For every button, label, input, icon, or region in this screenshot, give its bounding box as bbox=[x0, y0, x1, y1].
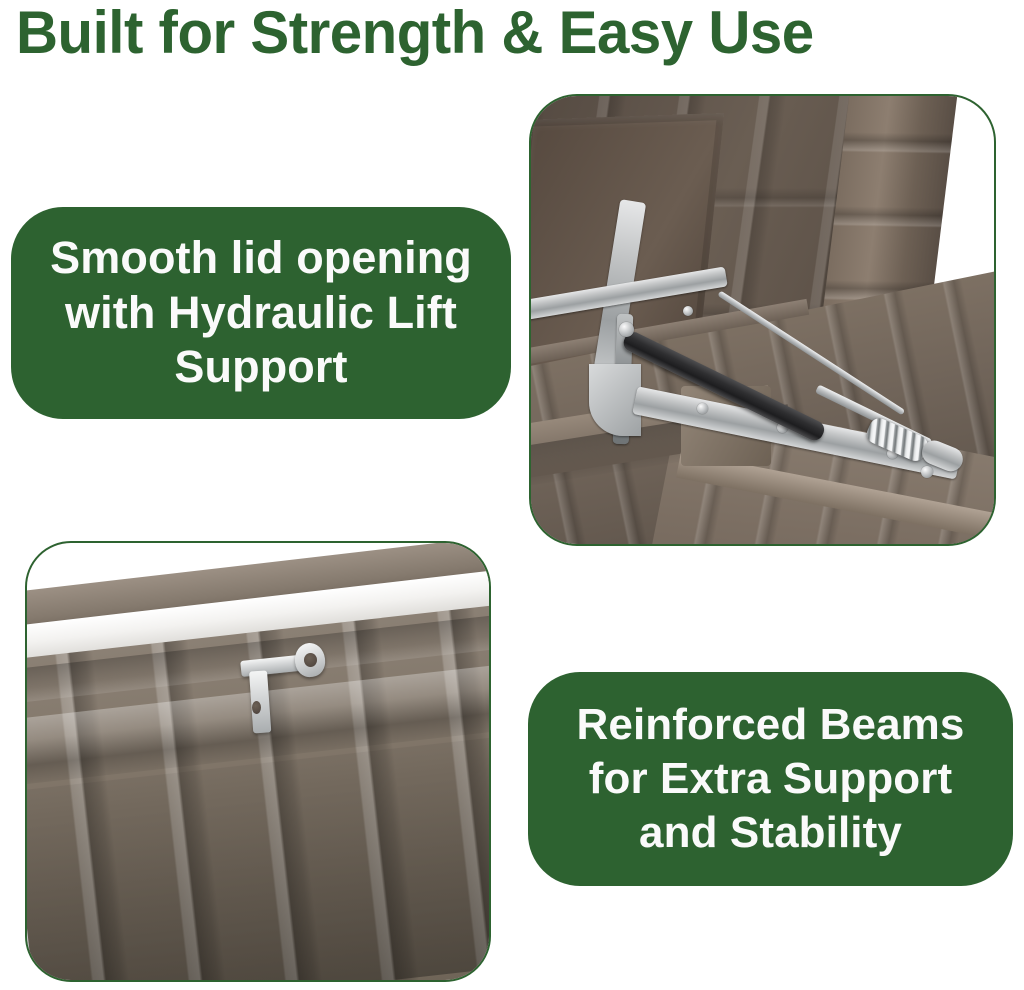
hydraulic-lift-photo-scene bbox=[531, 96, 994, 544]
reinforced-beams-photo-scene bbox=[27, 543, 489, 980]
hydraulic-lift-photo bbox=[529, 94, 996, 546]
hinge-eyelet-hole bbox=[304, 653, 317, 667]
hinge-rivet-3 bbox=[697, 403, 708, 414]
strut-pivot-upper bbox=[619, 322, 634, 337]
spring-anchor-rivet bbox=[921, 466, 933, 478]
reinforced-beams-photo bbox=[25, 541, 491, 982]
hinge-bracket-screw-hole bbox=[252, 701, 261, 714]
callout-hydraulic-lift: Smooth lid opening with Hydraulic Lift S… bbox=[11, 207, 511, 419]
hinge-rivet-2 bbox=[683, 306, 693, 316]
callout-reinforced-beams: Reinforced Beams for Extra Support and S… bbox=[528, 672, 1013, 886]
page-title: Built for Strength & Easy Use bbox=[16, 0, 980, 70]
callout-reinforced-beams-text: Reinforced Beams for Extra Support and S… bbox=[550, 698, 991, 859]
callout-hydraulic-lift-text: Smooth lid opening with Hydraulic Lift S… bbox=[37, 231, 485, 396]
